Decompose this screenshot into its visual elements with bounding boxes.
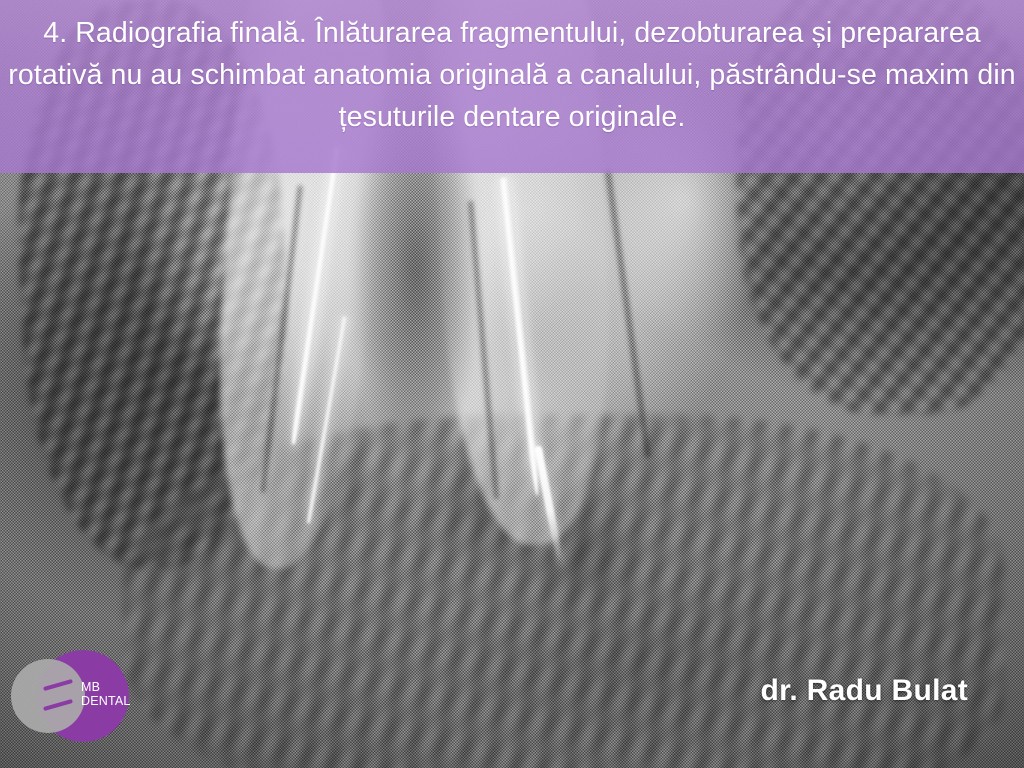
caption-text: 4. Radiografia finală. Înlăturarea fragm… xyxy=(8,12,1016,138)
author-signature: dr. Radu Bulat xyxy=(760,674,968,708)
logo-wordmark-line2: DENTAL xyxy=(81,694,133,708)
logo-wordmark: MB DENTAL xyxy=(81,680,133,708)
caption-banner: 4. Radiografia finală. Înlăturarea fragm… xyxy=(0,0,1024,173)
logo-wordmark-line1: MB xyxy=(81,680,133,694)
mb-dental-logo[interactable]: MB DENTAL xyxy=(37,650,129,742)
logo-crescent-edge xyxy=(7,656,87,736)
slide-canvas: 4. Radiografia finală. Înlăturarea fragm… xyxy=(0,0,1024,768)
